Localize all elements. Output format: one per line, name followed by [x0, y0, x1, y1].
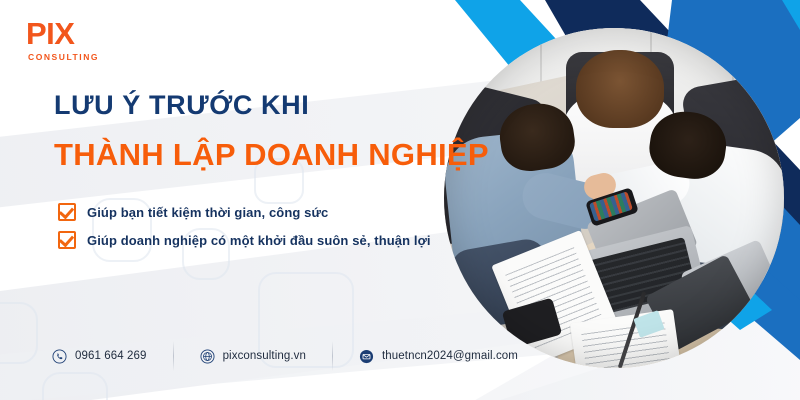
phone-icon: [52, 349, 67, 364]
contact-phone-label: 0961 664 269: [75, 350, 147, 362]
benefits-list: Giúp bạn tiết kiệm thời gian, công sức G…: [58, 203, 431, 259]
banner-root: PIX CONSULTING LƯU Ý TRƯỚC KHI THÀNH LẬP…: [0, 0, 800, 400]
contact-divider: [332, 341, 333, 371]
team-photo: [444, 28, 784, 368]
contact-website-label: pixconsulting.vn: [223, 350, 306, 362]
logo[interactable]: PIX CONSULTING: [26, 18, 99, 62]
team-photo-illustration: [444, 28, 784, 368]
contact-email-label: thuetncn2024@gmail.com: [382, 350, 518, 362]
logo-tagline: CONSULTING: [26, 52, 99, 62]
checkbox-checked-icon: [58, 203, 76, 221]
list-item-label: Giúp bạn tiết kiệm thời gian, công sức: [87, 205, 328, 220]
contact-website[interactable]: pixconsulting.vn: [200, 349, 306, 364]
logo-wordmark: PIX: [26, 18, 99, 49]
list-item: Giúp bạn tiết kiệm thời gian, công sức: [58, 203, 431, 221]
contact-divider: [173, 341, 174, 371]
headline-line-1: LƯU Ý TRƯỚC KHI: [54, 90, 309, 121]
contact-bar: 0961 664 269 pixconsulting.vn: [52, 341, 518, 371]
list-item-label: Giúp doanh nghiệp có một khởi đầu suôn s…: [87, 233, 431, 248]
headline-line-2: THÀNH LẬP DOANH NGHIỆP: [54, 137, 489, 173]
checkbox-checked-icon: [58, 231, 76, 249]
contact-phone[interactable]: 0961 664 269: [52, 349, 147, 364]
list-item: Giúp doanh nghiệp có một khởi đầu suôn s…: [58, 231, 431, 249]
contact-email[interactable]: thuetncn2024@gmail.com: [359, 349, 518, 364]
globe-icon: [200, 349, 215, 364]
envelope-icon: [359, 349, 374, 364]
